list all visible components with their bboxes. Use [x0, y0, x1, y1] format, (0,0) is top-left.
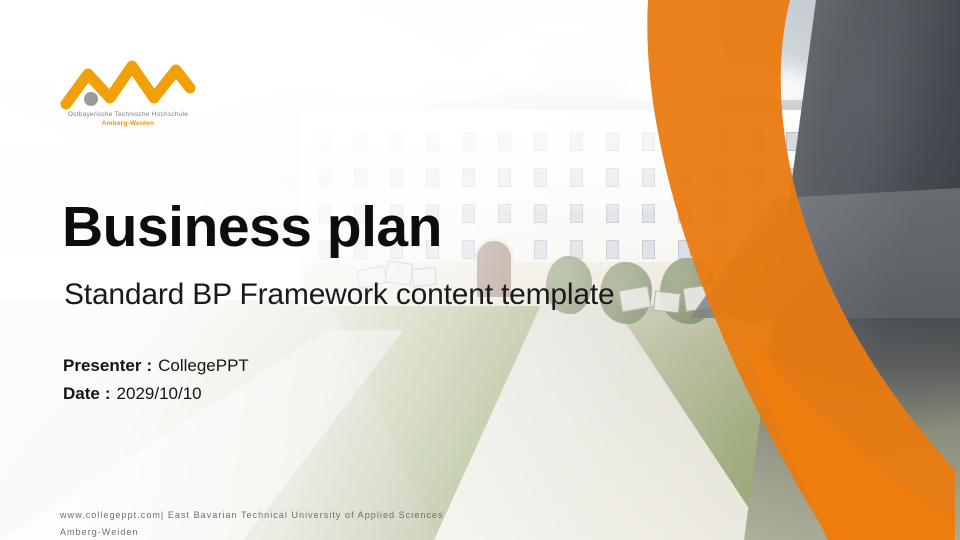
logo-dot-icon: [84, 92, 98, 106]
date-label: Date: [63, 380, 100, 408]
slide-meta: Presenter : CollegePPT Date : 2029/10/10: [63, 352, 249, 408]
slide-title: Business plan: [62, 198, 442, 258]
slide-subtitle: Standard BP Framework content template: [64, 278, 614, 312]
date-value: 2029/10/10: [117, 380, 202, 408]
presenter-value: CollegePPT: [158, 352, 249, 380]
logo-wordmark-line1: Ostbayerische Technische Hochschule: [66, 110, 190, 119]
logo-zigzag-icon: [60, 58, 196, 110]
presentation-slide: Ostbayerische Technische Hochschule Ambe…: [0, 0, 960, 540]
presenter-row: Presenter : CollegePPT: [63, 352, 249, 380]
date-row: Date : 2029/10/10: [63, 380, 249, 408]
date-separator: :: [100, 380, 117, 408]
university-logo: Ostbayerische Technische Hochschule Ambe…: [60, 58, 240, 128]
logo-wordmark-line2: Amberg-Weiden: [66, 119, 190, 128]
footer-credit: www.collegeppt.com| East Bavarian Techni…: [60, 507, 480, 540]
presenter-label: Presenter: [63, 352, 141, 380]
presenter-separator: :: [141, 352, 158, 380]
